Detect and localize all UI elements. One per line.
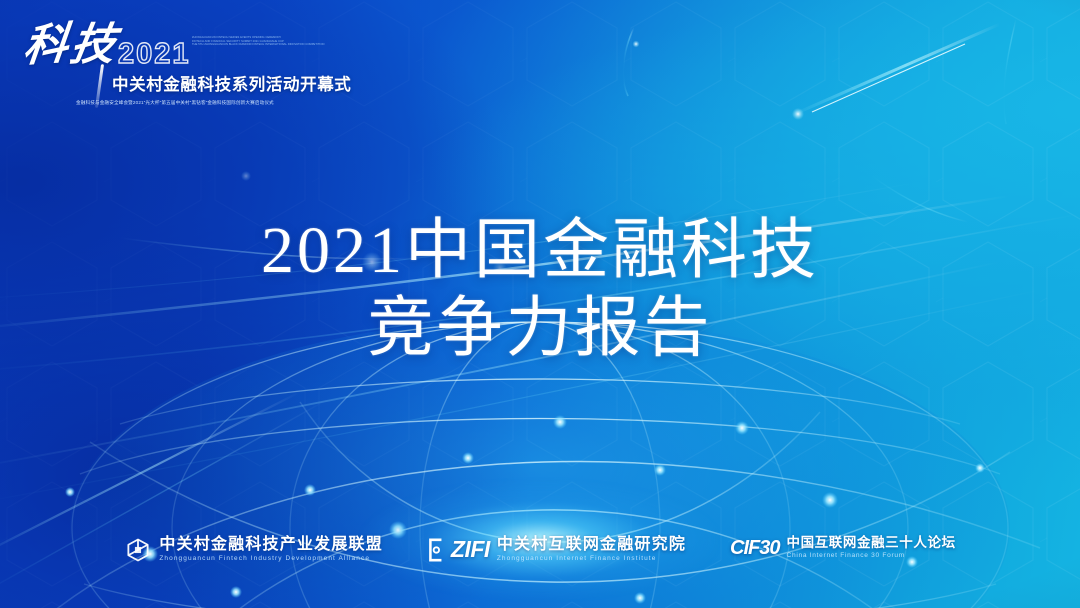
logo-text-block: 中国互联网金融三十人论坛 China Internet Finance 30 F…: [786, 535, 955, 561]
logo-name-cn: 中关村互联网金融研究院: [497, 535, 686, 554]
partner-logo-row: 中关村金融科技产业发展联盟 Zhongguancun Fintech Indus…: [0, 535, 1080, 564]
logo-zgc-fintech-alliance: 中关村金融科技产业发展联盟 Zhongguancun Fintech Indus…: [124, 535, 383, 564]
logo-name-cn: 中国互联网金融三十人论坛: [786, 535, 955, 551]
poster-title-line-1: 2021中国金融科技: [0, 212, 1080, 290]
banner-calligraphy: 科技: [21, 19, 119, 69]
banner-main-line: 中关村金融科技系列活动开幕式: [112, 71, 351, 95]
banner-calligraphy-char-1: 科: [21, 22, 71, 69]
banner-sub-line: 金融科技与金融安全峰会暨2021“光大杯”第五届中关村“黑钻客”金融科技国际创新…: [76, 100, 274, 106]
banner-year: 2021: [118, 40, 191, 69]
event-banner: 科技 2021 ZHONGGUANCUN FINTECH SERIES EVEN…: [14, 18, 344, 106]
logo-text-block: 中关村互联网金融研究院 Zhongguancun Internet Financ…: [497, 535, 686, 564]
logo-wordmark-cif30: CIF30: [730, 538, 779, 558]
banner-calligraphy-char-2: 技: [67, 23, 119, 68]
logo-name-cn: 中关村金融科技产业发展联盟: [159, 535, 383, 554]
logo-name-en: Zhongguancun Fintech Industry Developmen…: [159, 554, 383, 564]
poster-title-line-2: 竞争力报告: [0, 290, 1080, 368]
poster-canvas: 科技 2021 ZHONGGUANCUN FINTECH SERIES EVEN…: [0, 0, 1080, 608]
logo-name-en: China Internet Finance 30 Forum: [786, 551, 955, 561]
logo-text-block: 中关村金融科技产业发展联盟 Zhongguancun Fintech Indus…: [159, 535, 383, 564]
cube-emblem-icon: [124, 536, 152, 564]
logo-zgc-internet-finance-institute: ZIFI 中关村互联网金融研究院 Zhongguancun Internet F…: [427, 535, 686, 564]
logo-wordmark-zifi: ZIFI: [451, 538, 490, 561]
poster-title: 2021中国金融科技 竞争力报告: [0, 212, 1080, 368]
banner-english-micro-text: ZHONGGUANCUN FINTECH SERIES EVENTS OPENI…: [192, 36, 342, 47]
logo-name-en: Zhongguancun Internet Finance Institute: [497, 554, 686, 564]
logo-cif30-forum: CIF30 中国互联网金融三十人论坛 China Internet Financ…: [730, 535, 956, 561]
bracket-c-icon: [427, 537, 444, 563]
